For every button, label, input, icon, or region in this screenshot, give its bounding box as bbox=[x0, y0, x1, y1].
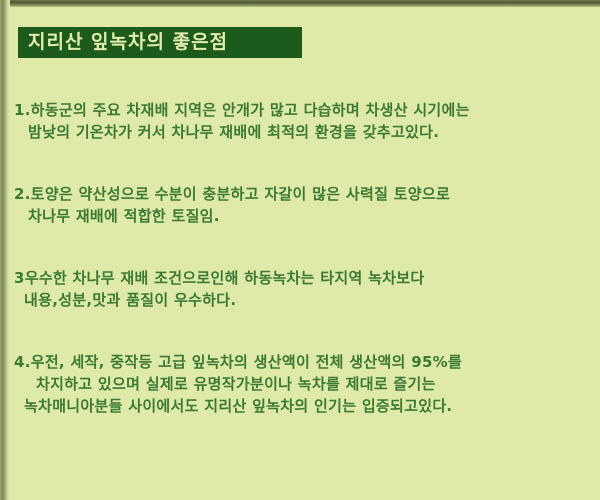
list-item: 1.하동군의 주요 차재배 지역은 안개가 많고 다습하며 차생산 시기에는 밤… bbox=[14, 99, 586, 143]
list-item-line: 1.하동군의 주요 차재배 지역은 안개가 많고 다습하며 차생산 시기에는 bbox=[14, 99, 586, 121]
list-item: 3우수한 차나무 재배 조건으로인해 하동녹차는 타지역 녹차보다 내용,성분,… bbox=[14, 267, 586, 311]
list-item: 4.우전, 세작, 중작등 고급 잎녹차의 생산액이 전체 생산액의 95%를 … bbox=[14, 351, 586, 417]
decorative-top-border bbox=[0, 0, 600, 7]
list-item-line: 녹차매니아분들 사이에서도 지리산 잎녹차의 인기는 입증되고있다. bbox=[14, 395, 586, 417]
title-banner: 지리산 잎녹차의 좋은점 bbox=[18, 27, 302, 58]
page-title: 지리산 잎녹차의 좋은점 bbox=[28, 33, 228, 52]
content-list: 1.하동군의 주요 차재배 지역은 안개가 많고 다습하며 차생산 시기에는 밤… bbox=[14, 99, 586, 417]
list-item-line: 밤낮의 기온차가 커서 차나무 재배에 최적의 환경을 갖추고있다. bbox=[14, 121, 586, 143]
list-item-line: 4.우전, 세작, 중작등 고급 잎녹차의 생산액이 전체 생산액의 95%를 bbox=[14, 351, 586, 373]
list-item-line: 내용,성분,맛과 품질이 우수하다. bbox=[14, 289, 586, 311]
document-page: 지리산 잎녹차의 좋은점 1.하동군의 주요 차재배 지역은 안개가 많고 다습… bbox=[0, 0, 600, 500]
decorative-left-border bbox=[0, 0, 10, 500]
list-item-line: 차지하고 있으며 실제로 유명작가분이나 녹차를 제대로 즐기는 bbox=[14, 373, 586, 395]
list-item: 2.토양은 약산성으로 수분이 충분하고 자갈이 많은 사력질 토양으로 차나무… bbox=[14, 183, 586, 227]
list-item-line: 3우수한 차나무 재배 조건으로인해 하동녹차는 타지역 녹차보다 bbox=[14, 267, 586, 289]
list-item-line: 차나무 재배에 적합한 토질임. bbox=[14, 205, 586, 227]
list-item-line: 2.토양은 약산성으로 수분이 충분하고 자갈이 많은 사력질 토양으로 bbox=[14, 183, 586, 205]
